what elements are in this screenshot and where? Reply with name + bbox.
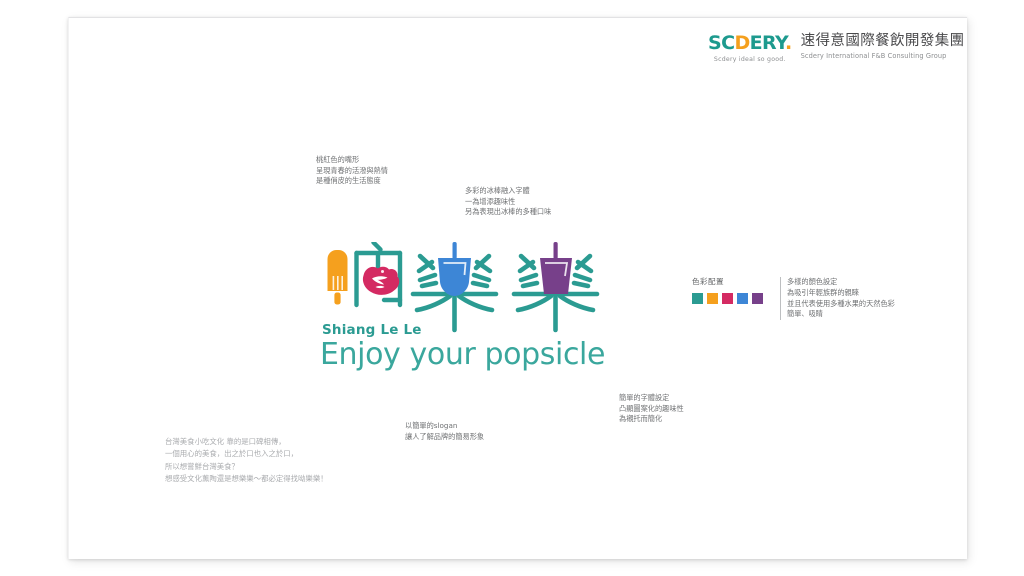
company-name-english: Scdery International F&B Consulting Grou… [801,52,947,60]
brand-story-line-3: 所以想嘗鮮台灣美食？ [165,461,328,473]
company-name-chinese: 速得意國際餐飲開發集團 [801,33,965,49]
swatch-pink [722,293,733,304]
blue-popsicle-icon [438,242,471,296]
palette-divider [780,277,781,320]
palette-desc-line-4: 簡單、吸睛 [787,309,895,320]
palette-desc-line-3: 並且代表使用多種水果的天然色彩 [787,299,895,310]
purple-cup-icon [540,242,572,294]
company-name-block: 速得意國際餐飲開發集團 Scdery International F&B Con… [801,33,965,60]
scdery-wordmark-ery: ERY [750,32,785,54]
palette-desc-line-2: 為吸引年輕族群的親睞 [787,288,895,299]
brand-story-line-1: 台灣美食小吃文化 靠的是口碑相傳， [165,436,328,448]
scdery-tagline: Scdery ideal so good. [714,56,786,63]
annotation-lips-line-1: 桃紅色的嘴形 [316,155,388,166]
scdery-wordmark-sc: SC [708,32,734,54]
orange-popsicle-icon [328,250,348,305]
logo-character-you [328,243,401,306]
brand-story-line-4: 想感受文化薰陶還是想樂樂～都必定得找呦樂樂！ [165,473,328,485]
color-palette-swatches [692,293,780,304]
color-palette-description: 多樣的顏色設定 為吸引年輕族群的親睞 並且代表使用多種水果的天然色彩 簡單、吸睛 [787,277,895,320]
annotation-typeface-line-2: 凸顯圖案化的趣味性 [619,404,684,415]
brand-logo-lockup: Shiang Le Le Enjoy your popsicle [316,242,616,382]
scdery-wordmark-dot: . [785,32,792,54]
annotation-typeface-line-1: 簡單的字體設定 [619,393,684,404]
palette-desc-line-1: 多樣的顏色設定 [787,277,895,288]
color-palette-section: 色彩配置 多樣的顏色設定 為吸引年輕族群的親睞 並且代表使用多種水果的天然色彩 … [692,277,895,320]
annotation-typeface: 簡單的字體設定 凸顯圖案化的趣味性 為襯托而簡化 [619,393,684,425]
swatch-teal [692,293,703,304]
slide-canvas: SCDERY. Scdery ideal so good. 速得意國際餐飲開發集… [0,0,1024,576]
scdery-logo-block: SCDERY. Scdery ideal so good. [708,33,801,63]
logo-character-le-blue [413,242,496,330]
annotation-slogan-line-1: 以簡單的slogan [405,421,484,432]
annotation-popsicle-line-3: 另為表現出冰棒的多種口味 [465,207,551,218]
annotation-slogan: 以簡單的slogan 讓人了解品牌的簡易形象 [405,421,484,442]
logo-romanization: Shiang Le Le [322,322,422,338]
annotation-lips-line-3: 是種俏皮的生活態度 [316,176,388,187]
pink-lips-icon [363,267,399,295]
annotation-lips-line-2: 呈現青春的活潑與熱情 [316,166,388,177]
scdery-wordmark: SCDERY. [708,33,792,53]
color-palette-title: 色彩配置 [692,277,780,287]
swatch-orange [707,293,718,304]
annotation-popsicle-line-1: 多彩的冰棒融入字體 [465,186,551,197]
brand-header: SCDERY. Scdery ideal so good. 速得意國際餐飲開發集… [708,33,965,63]
annotation-typeface-line-3: 為襯托而簡化 [619,414,684,425]
annotation-popsicle-line-2: 一為增添趣味性 [465,197,551,208]
scdery-wordmark-d: D [734,32,749,54]
brand-story-line-2: 一個用心的美食，出之於口也入之於口， [165,448,328,460]
logo-english-slogan: Enjoy your popsicle [320,338,605,372]
color-palette-left: 色彩配置 [692,277,780,304]
swatch-purple [752,293,763,304]
character-accent-tick [374,243,381,250]
annotation-lips: 桃紅色的嘴形 呈現青春的活潑與熱情 是種俏皮的生活態度 [316,155,388,187]
annotation-popsicle: 多彩的冰棒融入字體 一為增添趣味性 另為表現出冰棒的多種口味 [465,186,551,218]
brand-story-text: 台灣美食小吃文化 靠的是口碑相傳， 一個用心的美食，出之於口也入之於口， 所以想… [165,436,328,486]
swatch-blue [737,293,748,304]
logo-character-le-purple [514,242,597,330]
annotation-slogan-line-2: 讓人了解品牌的簡易形象 [405,432,484,443]
